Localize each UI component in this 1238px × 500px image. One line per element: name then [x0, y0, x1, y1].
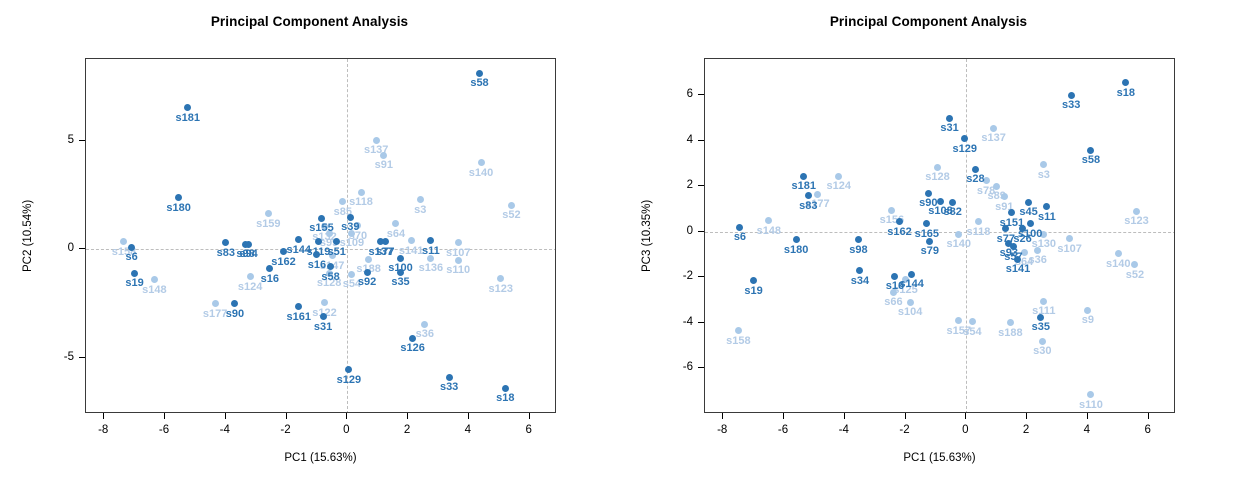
x-tick: [529, 413, 530, 419]
point-label: s83: [217, 247, 235, 259]
data-point[interactable]: [1043, 203, 1050, 210]
point-label: s51: [328, 246, 346, 258]
point-label: s158: [726, 335, 750, 347]
y-tick-label: -2: [683, 270, 693, 282]
data-point[interactable]: [392, 220, 399, 227]
x-tick-label: -4: [839, 424, 849, 436]
data-point[interactable]: [934, 164, 941, 171]
data-point[interactable]: [1037, 314, 1044, 321]
data-point[interactable]: [320, 313, 327, 320]
x-tick: [225, 413, 226, 419]
data-point[interactable]: [1001, 193, 1008, 200]
y-tick: [79, 248, 85, 249]
data-point[interactable]: [245, 241, 252, 248]
point-label: s18: [1117, 87, 1135, 99]
point-label: s90: [226, 308, 244, 320]
point-label: s33: [1062, 99, 1080, 111]
y-tick-label: -4: [683, 316, 693, 328]
y-tick-label: 6: [687, 88, 693, 100]
point-label: s124: [238, 281, 262, 293]
x-tick: [1087, 413, 1088, 419]
data-point[interactable]: [975, 218, 982, 225]
x-tick: [783, 413, 784, 419]
point-label: s36: [416, 328, 434, 340]
data-point[interactable]: [1040, 298, 1047, 305]
x-tick-label: 6: [1144, 424, 1150, 436]
point-label: s148: [142, 284, 166, 296]
x-tick: [1148, 413, 1149, 419]
data-point[interactable]: [949, 199, 956, 206]
data-point[interactable]: [397, 255, 404, 262]
point-label: s128: [925, 171, 949, 183]
point-label: s144: [899, 278, 923, 290]
point-label: s83: [799, 200, 817, 212]
point-label: s180: [166, 202, 190, 214]
x-tick-label: -6: [159, 424, 169, 436]
x-tick-label: -2: [899, 424, 909, 436]
point-label: s118: [349, 196, 373, 208]
data-point[interactable]: [1068, 92, 1075, 99]
data-point[interactable]: [1066, 235, 1073, 242]
point-label: s161: [286, 311, 310, 323]
data-point[interactable]: [793, 236, 800, 243]
point-label: s34: [851, 275, 869, 287]
point-label: s159: [256, 218, 280, 230]
x-tick: [164, 413, 165, 419]
y-axis-title-right: PC3 (10.35%): [641, 199, 653, 271]
data-point[interactable]: [175, 194, 182, 201]
x-tick-label: 2: [1023, 424, 1029, 436]
point-label: s140: [469, 167, 493, 179]
data-point[interactable]: [128, 244, 135, 251]
point-label: s19: [744, 285, 762, 297]
data-point[interactable]: [212, 300, 219, 307]
data-point[interactable]: [1007, 319, 1014, 326]
y-axis-title-left: PC2 (10.54%): [22, 199, 34, 271]
data-point[interactable]: [397, 269, 404, 276]
data-point[interactable]: [380, 152, 387, 159]
data-point[interactable]: [1084, 307, 1091, 314]
data-point[interactable]: [891, 273, 898, 280]
point-label: s107: [1057, 243, 1081, 255]
data-point[interactable]: [222, 239, 229, 246]
point-label: s64: [387, 228, 405, 240]
data-point[interactable]: [1131, 261, 1138, 268]
data-point[interactable]: [1025, 199, 1032, 206]
y-tick-label: 4: [687, 134, 693, 146]
data-point[interactable]: [969, 318, 976, 325]
data-point[interactable]: [417, 196, 424, 203]
data-point[interactable]: [247, 273, 254, 280]
data-point[interactable]: [735, 327, 742, 334]
point-label: s137: [981, 132, 1005, 144]
x-tick-label: -8: [98, 424, 108, 436]
x-tick-label: -6: [778, 424, 788, 436]
data-point[interactable]: [1133, 208, 1140, 215]
data-point[interactable]: [131, 270, 138, 277]
data-point[interactable]: [750, 277, 757, 284]
data-point[interactable]: [421, 321, 428, 328]
data-point[interactable]: [364, 269, 371, 276]
data-point[interactable]: [1122, 79, 1129, 86]
data-point[interactable]: [321, 299, 328, 306]
data-point[interactable]: [446, 374, 453, 381]
data-point[interactable]: [348, 271, 355, 278]
point-label: s129: [953, 143, 977, 155]
pca-panel-pc1-pc3: Principal Component Analysis s137s3s128s…: [619, 0, 1238, 500]
data-point[interactable]: [1115, 250, 1122, 257]
data-point[interactable]: [765, 217, 772, 224]
data-point[interactable]: [1087, 147, 1094, 154]
data-point[interactable]: [339, 198, 346, 205]
x-tick-label: -2: [280, 424, 290, 436]
x-axis-title-right: PC1 (15.63%): [704, 452, 1175, 464]
plot-area-left: s137s91s140s118s85s3s52s159s64s132s70s99…: [86, 59, 555, 412]
data-point[interactable]: [497, 275, 504, 282]
point-label: s3: [1038, 169, 1050, 181]
data-point[interactable]: [151, 276, 158, 283]
point-label: s155: [309, 222, 333, 234]
point-label: s35: [391, 276, 409, 288]
plot-frame-right: s137s3s128s124s78s89s177s91s156s123s118s…: [704, 58, 1175, 413]
x-tick-label: 4: [465, 424, 471, 436]
data-point[interactable]: [993, 183, 1000, 190]
data-point[interactable]: [455, 257, 462, 264]
data-point[interactable]: [478, 159, 485, 166]
data-point[interactable]: [1087, 391, 1094, 398]
data-point[interactable]: [736, 224, 743, 231]
point-label: s9: [1082, 314, 1094, 326]
point-label: s31: [314, 321, 332, 333]
data-point[interactable]: [295, 303, 302, 310]
x-tick: [407, 413, 408, 419]
point-label: s33: [440, 381, 458, 393]
point-label: s91: [375, 159, 393, 171]
y-tick: [698, 231, 704, 232]
point-label: s188: [998, 327, 1022, 339]
point-label: s140: [1106, 258, 1130, 270]
y-tick: [698, 276, 704, 277]
data-point[interactable]: [955, 317, 962, 324]
data-point[interactable]: [800, 173, 807, 180]
point-label: s110: [1079, 399, 1103, 411]
data-point[interactable]: [925, 190, 932, 197]
point-label: s136: [419, 262, 443, 274]
x-tick: [905, 413, 906, 419]
point-label: s79: [921, 245, 939, 257]
x-tick: [722, 413, 723, 419]
x-tick-label: 2: [404, 424, 410, 436]
point-label: s180: [784, 244, 808, 256]
x-axis-title-left: PC1 (15.63%): [85, 452, 556, 464]
point-label: s162: [887, 226, 911, 238]
data-point[interactable]: [358, 189, 365, 196]
data-point[interactable]: [184, 104, 191, 111]
data-point[interactable]: [1019, 225, 1026, 232]
data-point[interactable]: [409, 335, 416, 342]
data-point[interactable]: [345, 366, 352, 373]
y-tick: [698, 94, 704, 95]
x-tick: [103, 413, 104, 419]
data-point[interactable]: [937, 198, 944, 205]
point-label: s52: [1126, 269, 1144, 281]
data-point[interactable]: [888, 207, 895, 214]
x-tick-label: 0: [343, 424, 349, 436]
point-label: s39: [341, 221, 359, 233]
point-label: s11: [422, 245, 440, 257]
point-label: s19: [125, 277, 143, 289]
point-label: s26: [1013, 233, 1031, 245]
y-tick-label: 5: [68, 134, 74, 146]
x-tick: [965, 413, 966, 419]
point-label: s30: [1033, 345, 1051, 357]
plot-frame-left: s137s91s140s118s85s3s52s159s64s132s70s99…: [85, 58, 556, 413]
y-tick-label: -5: [64, 351, 74, 363]
x-tick: [468, 413, 469, 419]
y-tick: [698, 367, 704, 368]
data-point[interactable]: [926, 238, 933, 245]
point-label: s28: [966, 173, 984, 185]
data-point[interactable]: [1027, 220, 1034, 227]
point-label: s177: [203, 308, 227, 320]
y-tick-label: 0: [68, 242, 74, 254]
point-label: s104: [898, 306, 922, 318]
data-point[interactable]: [1034, 247, 1041, 254]
data-point[interactable]: [295, 236, 302, 243]
data-point[interactable]: [347, 214, 354, 221]
point-label: s141: [1006, 263, 1030, 275]
point-label: s123: [1124, 215, 1148, 227]
point-label: s181: [792, 180, 816, 192]
y-tick: [698, 140, 704, 141]
data-point[interactable]: [476, 70, 483, 77]
point-label: s82: [943, 206, 961, 218]
data-point[interactable]: [231, 300, 238, 307]
point-label: s58: [321, 271, 339, 283]
point-label: s124: [826, 180, 850, 192]
point-label: s11: [1038, 211, 1056, 223]
point-label: s3: [414, 204, 426, 216]
y-tick-label: 0: [687, 225, 693, 237]
point-label: s110: [446, 264, 470, 276]
point-label: s140: [946, 238, 970, 250]
data-point[interactable]: [946, 115, 953, 122]
point-label: s16: [261, 273, 279, 285]
point-label: s94: [239, 248, 257, 260]
y-tick: [698, 322, 704, 323]
point-label: s118: [967, 226, 991, 238]
data-point[interactable]: [502, 385, 509, 392]
point-label: s58: [1082, 154, 1100, 166]
point-label: s6: [734, 231, 746, 243]
point-label: s16: [308, 259, 326, 271]
data-point[interactable]: [1008, 209, 1015, 216]
point-label: s18: [496, 392, 514, 404]
point-label: s58: [470, 77, 488, 89]
data-point[interactable]: [955, 231, 962, 238]
data-point[interactable]: [990, 125, 997, 132]
point-label: s98: [849, 244, 867, 256]
point-label: s77: [376, 246, 394, 258]
x-tick: [844, 413, 845, 419]
x-tick: [1026, 413, 1027, 419]
point-label: s126: [400, 342, 424, 354]
y-tick-label: 2: [687, 179, 693, 191]
point-label: s162: [271, 256, 295, 268]
x-tick-label: 4: [1084, 424, 1090, 436]
data-point[interactable]: [265, 210, 272, 217]
x-tick-label: -8: [717, 424, 727, 436]
point-label: s31: [940, 122, 958, 134]
data-point[interactable]: [908, 271, 915, 278]
point-label: s123: [489, 283, 513, 295]
data-point[interactable]: [856, 267, 863, 274]
data-point[interactable]: [318, 215, 325, 222]
data-point[interactable]: [923, 220, 930, 227]
point-label: s148: [757, 225, 781, 237]
y-tick-label: -6: [683, 361, 693, 373]
data-point[interactable]: [382, 238, 389, 245]
chart-title-left: Principal Component Analysis: [0, 14, 619, 29]
point-label: s92: [358, 276, 376, 288]
data-point[interactable]: [427, 237, 434, 244]
data-point[interactable]: [805, 192, 812, 199]
data-point[interactable]: [408, 237, 415, 244]
y-tick: [698, 185, 704, 186]
x-tick-label: -4: [220, 424, 230, 436]
data-point[interactable]: [373, 137, 380, 144]
data-point[interactable]: [907, 299, 914, 306]
point-label: s129: [337, 374, 361, 386]
pca-panel-pc1-pc2: Principal Component Analysis s137s91s140…: [0, 0, 619, 500]
x-tick-label: 6: [525, 424, 531, 436]
y-tick: [79, 140, 85, 141]
data-point[interactable]: [835, 173, 842, 180]
point-label: s52: [502, 209, 520, 221]
data-point[interactable]: [508, 202, 515, 209]
point-label: s6: [125, 251, 137, 263]
x-tick-label: 0: [962, 424, 968, 436]
point-label: s35: [1032, 321, 1050, 333]
data-point[interactable]: [455, 239, 462, 246]
data-point[interactable]: [120, 238, 127, 245]
data-point[interactable]: [1039, 338, 1046, 345]
point-label: s54: [963, 326, 981, 338]
plot-area-right: s137s3s128s124s78s89s177s91s156s123s118s…: [705, 59, 1174, 412]
data-point[interactable]: [266, 265, 273, 272]
x-tick: [286, 413, 287, 419]
point-label: s181: [176, 112, 200, 124]
y-tick: [79, 357, 85, 358]
data-point[interactable]: [1040, 161, 1047, 168]
x-tick: [346, 413, 347, 419]
data-point[interactable]: [972, 166, 979, 173]
data-point[interactable]: [855, 236, 862, 243]
pca-figure: Principal Component Analysis s137s91s140…: [0, 0, 1238, 500]
chart-title-right: Principal Component Analysis: [619, 14, 1238, 29]
